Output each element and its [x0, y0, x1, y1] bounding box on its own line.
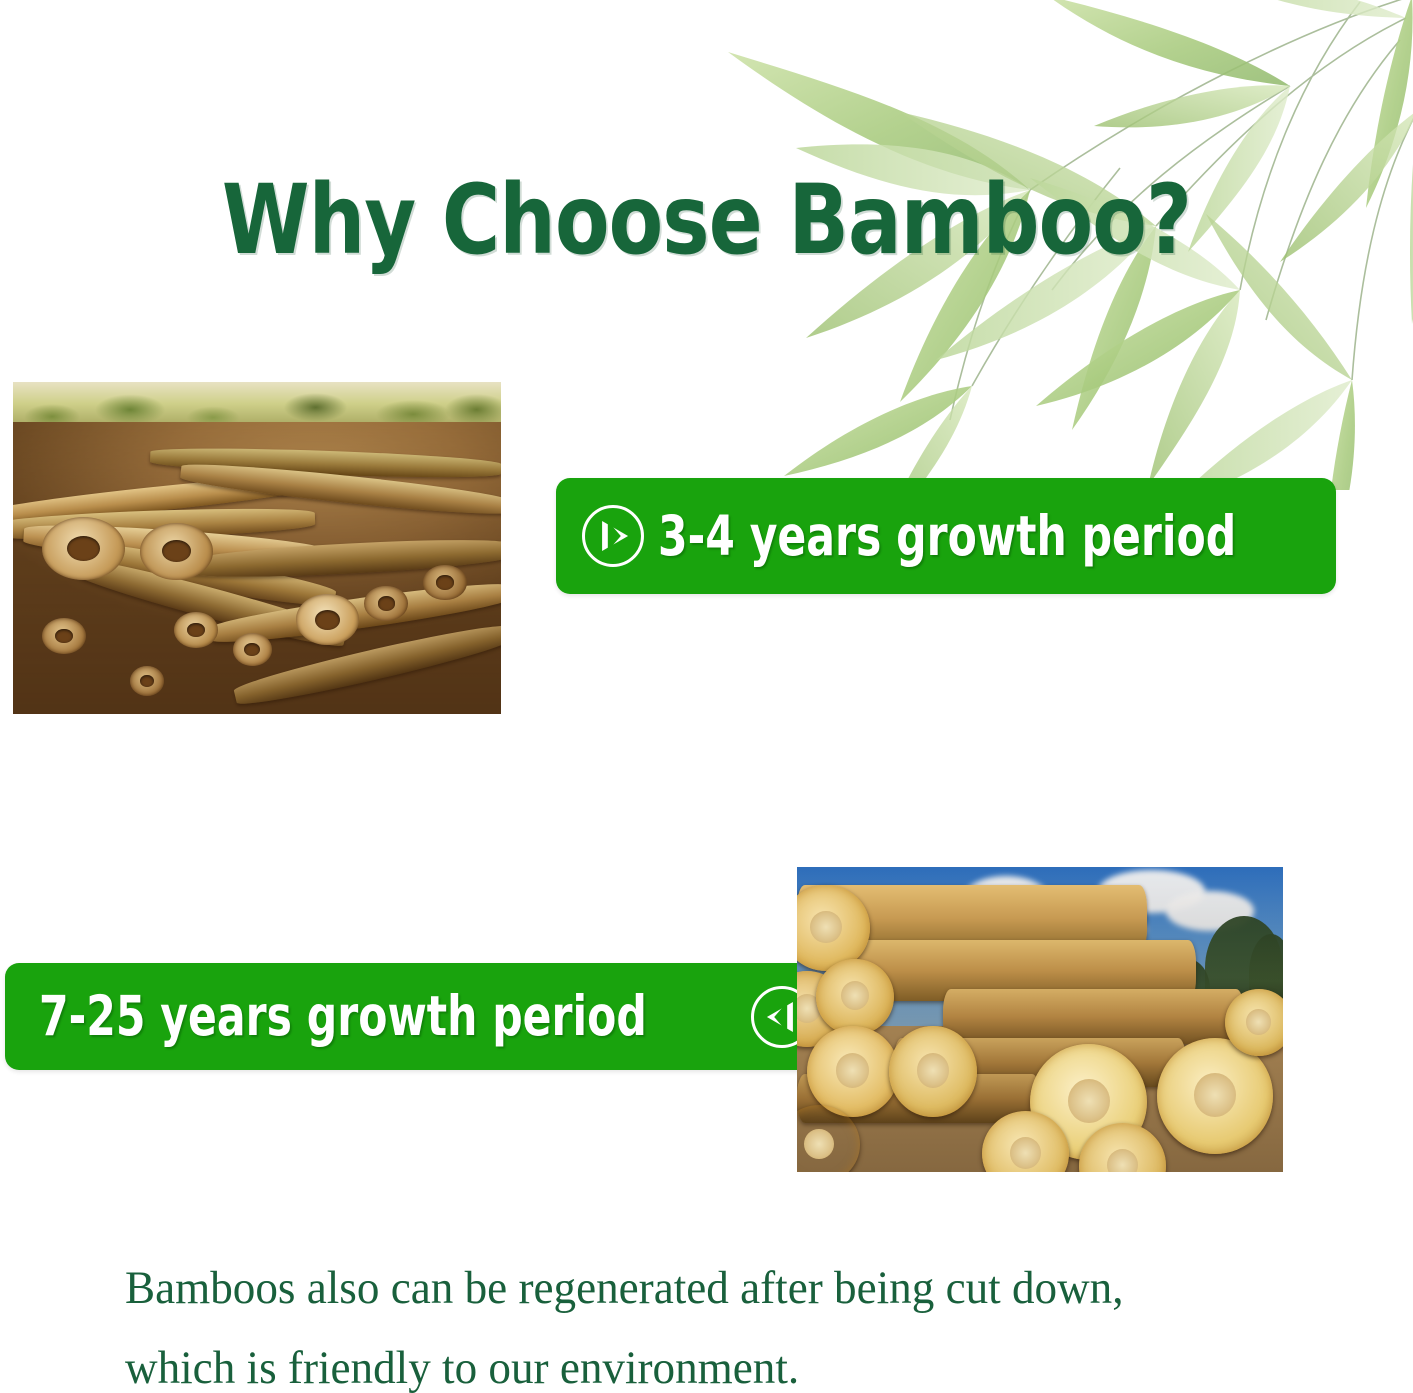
caption-line-2: which is friendly to our environment. — [125, 1328, 1258, 1393]
bamboo-poles-photo — [13, 382, 501, 714]
banner-label-timber: 7-25 years growth period — [39, 989, 647, 1044]
circle-arrow-right-icon — [582, 505, 644, 567]
marketing-banner-page: Why Choose Bamboo? — [0, 0, 1413, 1393]
page-title: Why Choose Bamboo? — [57, 170, 1357, 270]
caption-text: Bamboos also can be regenerated after be… — [125, 1248, 1305, 1393]
caption-line-1: Bamboos also can be regenerated after be… — [125, 1248, 1258, 1328]
growth-period-banner-bamboo[interactable]: 3-4 years growth period — [556, 478, 1336, 594]
growth-period-banner-timber[interactable]: 7-25 years growth period — [5, 963, 835, 1070]
banner-label-bamboo: 3-4 years growth period — [658, 509, 1236, 564]
timber-logs-photo — [797, 867, 1283, 1172]
